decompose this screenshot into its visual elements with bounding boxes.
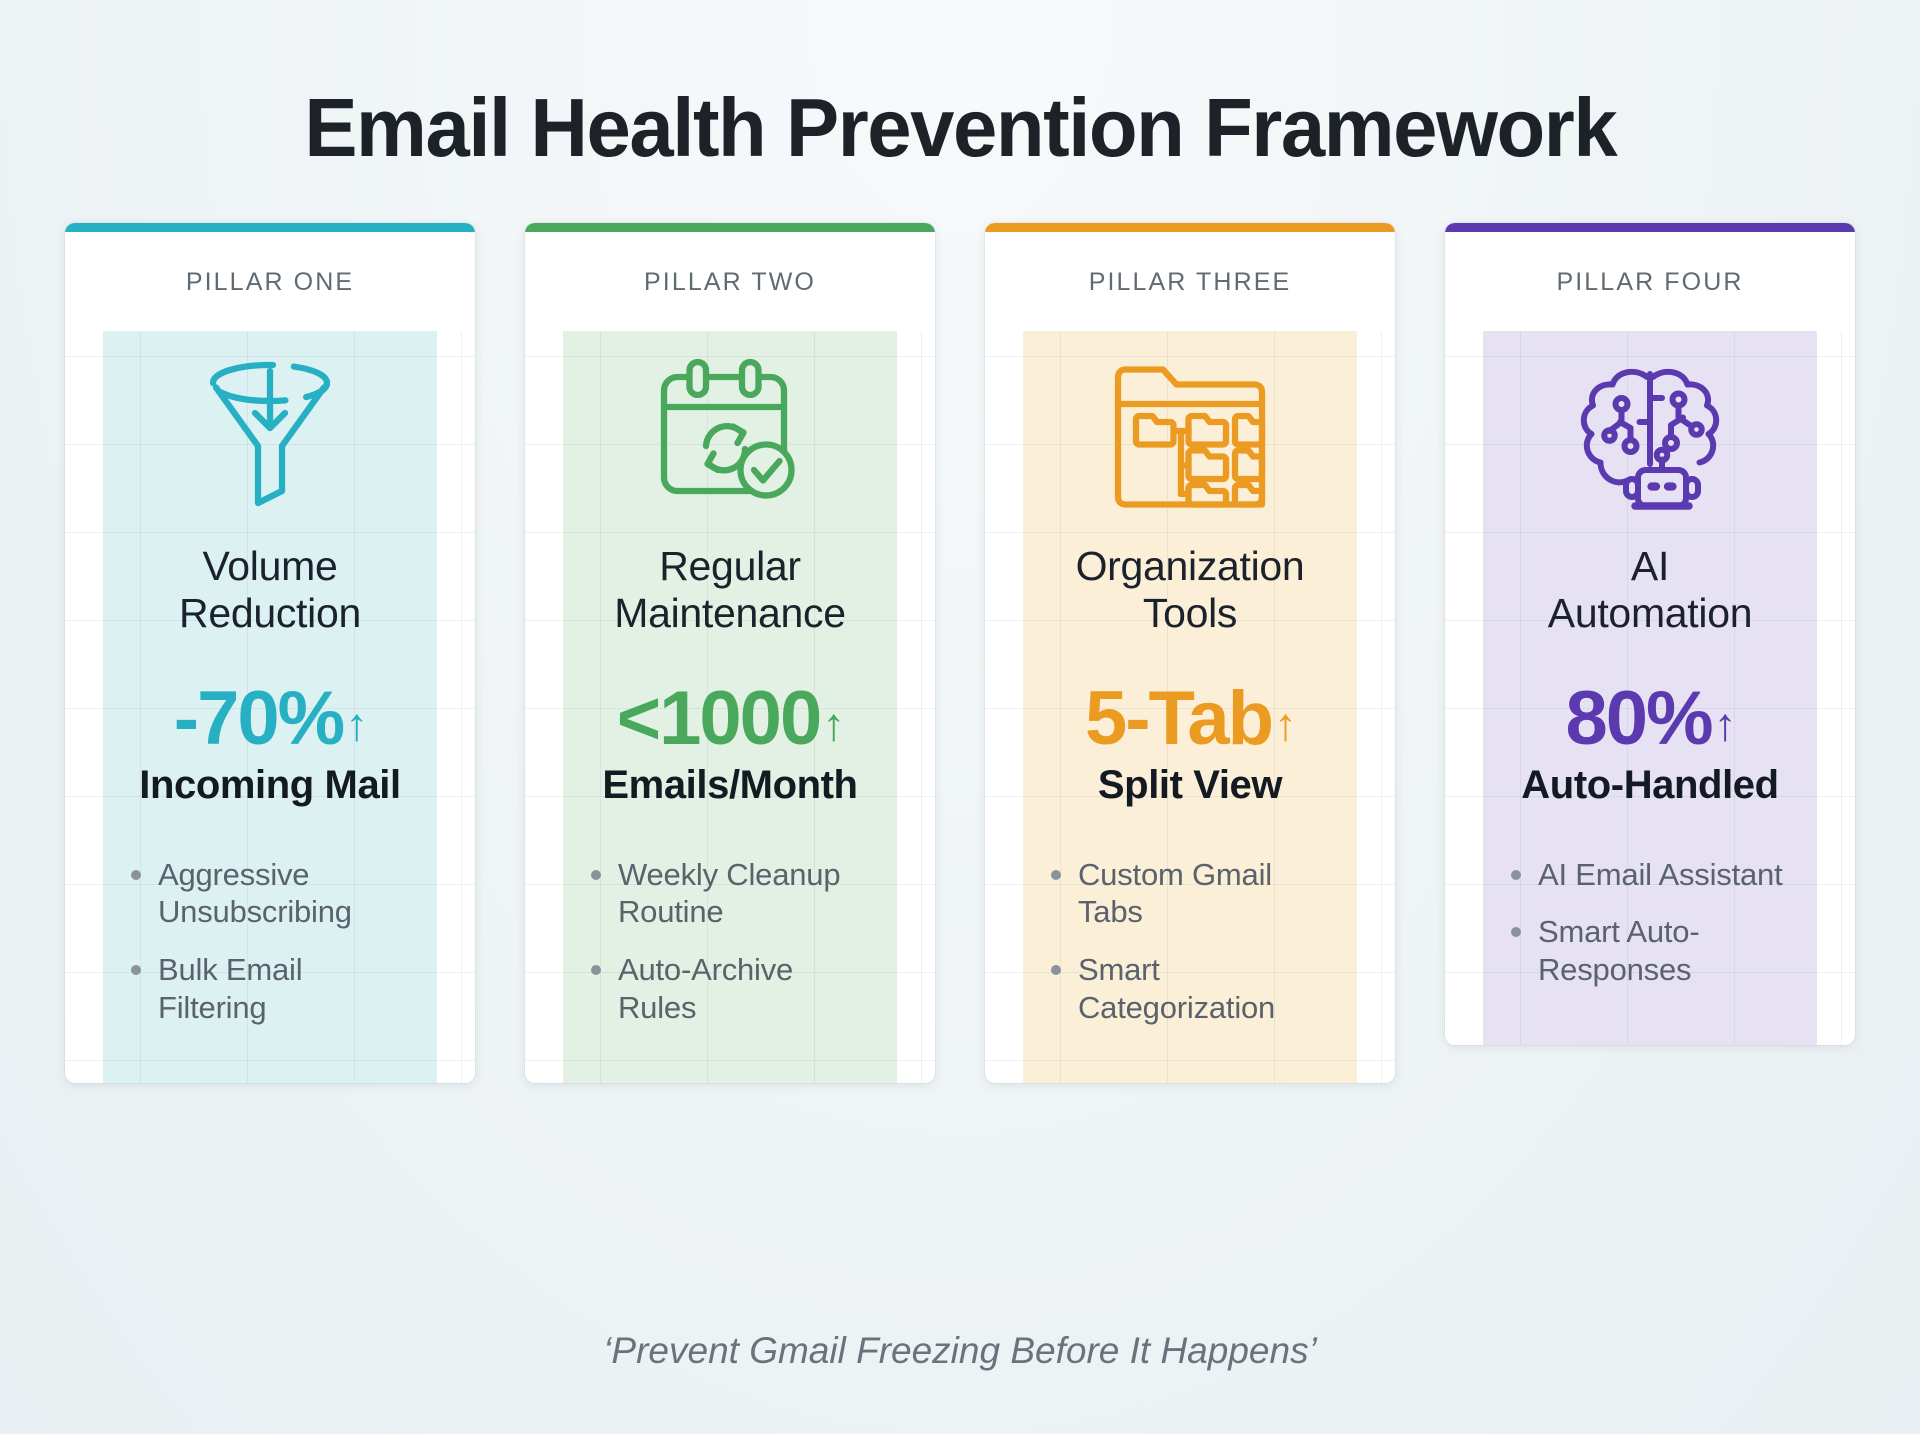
card-title-line-2: Reduction [179,590,361,637]
funnel-down-arrow-icon [103,331,437,539]
bullet-dot-icon [1051,965,1061,975]
card-accent-bar [65,223,475,232]
stat-value: -70% [174,681,343,757]
pillar-card-two[interactable]: PILLAR TWO [525,223,935,1083]
card-title-line-1: Organization [1076,543,1305,590]
stat-block: -70%↑ Incoming Mail [103,667,437,834]
list-item-label: Custom Gmail Tabs [1078,856,1339,932]
pillar-label: PILLAR FOUR [1445,232,1855,331]
trend-up-arrow-icon: ↑ [822,701,843,747]
bullet-dot-icon [131,965,141,975]
list-item: Smart Categorization [1023,951,1357,1047]
list-item: Auto-Archive Rules [563,951,897,1047]
infographic-page: Email Health Prevention Framework PILLAR… [0,0,1920,1434]
pillar-label: PILLAR ONE [65,232,475,331]
pillar-label: PILLAR TWO [525,232,935,331]
list-item: AI Email Assistant [1483,856,1817,914]
footer-caption: ‘Prevent Gmail Freezing Before It Happen… [0,1330,1920,1372]
feature-list: AI Email Assistant Smart Auto-Responses [1483,834,1817,1009]
bullet-dot-icon [1511,870,1521,880]
trend-up-arrow-icon: ↑ [345,701,366,747]
card-body: AI Automation 80%↑ Auto-Handled AI Email… [1483,331,1817,1045]
stat-block: <1000↑ Emails/Month [563,667,897,834]
pillar-card-four[interactable]: PILLAR FOUR [1445,223,1855,1045]
card-content: AI Automation 80%↑ Auto-Handled AI Email… [1483,331,1817,1045]
list-item: Aggressive Unsubscribing [103,856,437,952]
pillar-label: PILLAR THREE [985,232,1395,331]
card-title: Organization Tools [1070,539,1311,666]
stat-block: 5-Tab↑ Split View [1023,667,1357,834]
stat-value: 5-Tab [1085,681,1272,757]
pillar-cards-row: PILLAR ONE Volume Reduction [65,223,1855,1083]
card-body: Organization Tools 5-Tab↑ Split View Cus… [1023,331,1357,1083]
card-content: Volume Reduction -70%↑ Incoming Mail Agg… [103,331,437,1083]
card-title-line-1: Volume [179,543,361,590]
card-title-line-2: Automation [1548,590,1752,637]
bullet-dot-icon [591,965,601,975]
page-title: Email Health Prevention Framework [304,84,1616,171]
bullet-dot-icon [131,870,141,880]
card-accent-bar [1445,223,1855,232]
folder-tree-icon [1023,331,1357,539]
card-body: Regular Maintenance <1000↑ Emails/Month … [563,331,897,1083]
stat-value-group: <1000↑ [617,681,843,757]
card-accent-bar [985,223,1395,232]
feature-list: Custom Gmail Tabs Smart Categorization [1023,834,1357,1047]
list-item-label: AI Email Assistant [1538,856,1783,894]
pillar-card-three[interactable]: PILLAR THREE [985,223,1395,1083]
stat-value-group: 5-Tab↑ [1085,681,1295,757]
list-item: Custom Gmail Tabs [1023,856,1357,952]
feature-list: Aggressive Unsubscribing Bulk Email Filt… [103,834,437,1047]
card-title-line-1: AI [1548,543,1752,590]
list-item-label: Auto-Archive Rules [618,951,879,1027]
bullet-dot-icon [1051,870,1061,880]
stat-block: 80%↑ Auto-Handled [1483,667,1817,834]
stat-label: Split View [1023,763,1357,808]
list-item: Bulk Email Filtering [103,951,437,1047]
card-title: Regular Maintenance [608,539,851,666]
bullet-dot-icon [1511,927,1521,937]
calendar-sync-check-icon [563,331,897,539]
pillar-card-one[interactable]: PILLAR ONE Volume Reduction [65,223,475,1083]
card-title: AI Automation [1542,539,1758,666]
list-item-label: Smart Auto-Responses [1538,913,1799,989]
card-content: Organization Tools 5-Tab↑ Split View Cus… [1023,331,1357,1083]
list-item-label: Smart Categorization [1078,951,1339,1027]
brain-robot-ai-icon [1483,331,1817,539]
card-title-line-2: Maintenance [614,590,845,637]
card-title-line-1: Regular [614,543,845,590]
stat-value-group: 80%↑ [1565,681,1734,757]
trend-up-arrow-icon: ↑ [1714,701,1735,747]
trend-up-arrow-icon: ↑ [1274,701,1295,747]
list-item-label: Aggressive Unsubscribing [158,856,419,932]
card-title: Volume Reduction [173,539,367,666]
stat-value: 80% [1565,681,1711,757]
stat-label: Auto-Handled [1483,763,1817,808]
bullet-dot-icon [591,870,601,880]
list-item: Weekly Cleanup Routine [563,856,897,952]
stat-value-group: -70%↑ [174,681,366,757]
stat-label: Incoming Mail [103,763,437,808]
card-accent-bar [525,223,935,232]
list-item: Smart Auto-Responses [1483,913,1817,1009]
card-body: Volume Reduction -70%↑ Incoming Mail Agg… [103,331,437,1083]
list-item-label: Bulk Email Filtering [158,951,419,1027]
list-item-label: Weekly Cleanup Routine [618,856,879,932]
feature-list: Weekly Cleanup Routine Auto-Archive Rule… [563,834,897,1047]
card-content: Regular Maintenance <1000↑ Emails/Month … [563,331,897,1083]
stat-value: <1000 [617,681,820,757]
card-title-line-2: Tools [1076,590,1305,637]
stat-label: Emails/Month [563,763,897,808]
